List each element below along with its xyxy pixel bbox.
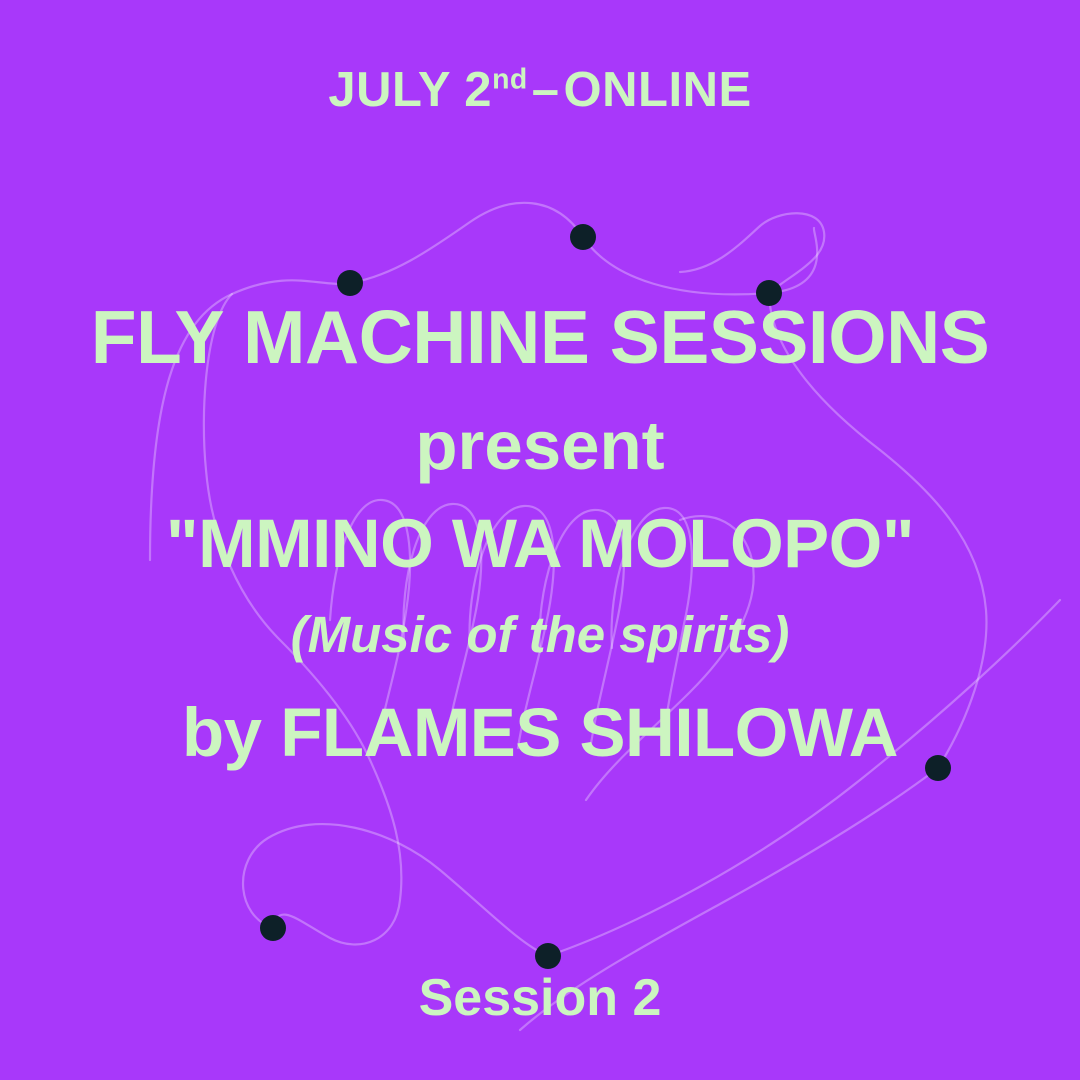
ordinal-suffix: nd: [492, 64, 528, 96]
date-location-separator: –: [528, 63, 564, 117]
session-label: Session 2: [0, 972, 1080, 1024]
work-title: "MMINO WA MOLOPO": [0, 508, 1080, 580]
event-date: JULY 2: [328, 63, 492, 117]
work-title-translation: (Music of the spirits): [0, 608, 1080, 662]
organization-name: FLY MACHINE SESSIONS: [0, 298, 1080, 376]
main-title-block: FLY MACHINE SESSIONS present "MMINO WA M…: [0, 298, 1080, 770]
poster-canvas: JULY 2nd–ONLINE FLY MACHINE SESSIONS pre…: [0, 0, 1080, 1080]
present-verb: present: [0, 410, 1080, 482]
event-location: ONLINE: [564, 63, 752, 117]
event-date-location: JULY 2nd–ONLINE: [0, 66, 1080, 115]
poster-content: JULY 2nd–ONLINE FLY MACHINE SESSIONS pre…: [0, 0, 1080, 1080]
artist-credit: by FLAMES SHILOWA: [0, 697, 1080, 769]
